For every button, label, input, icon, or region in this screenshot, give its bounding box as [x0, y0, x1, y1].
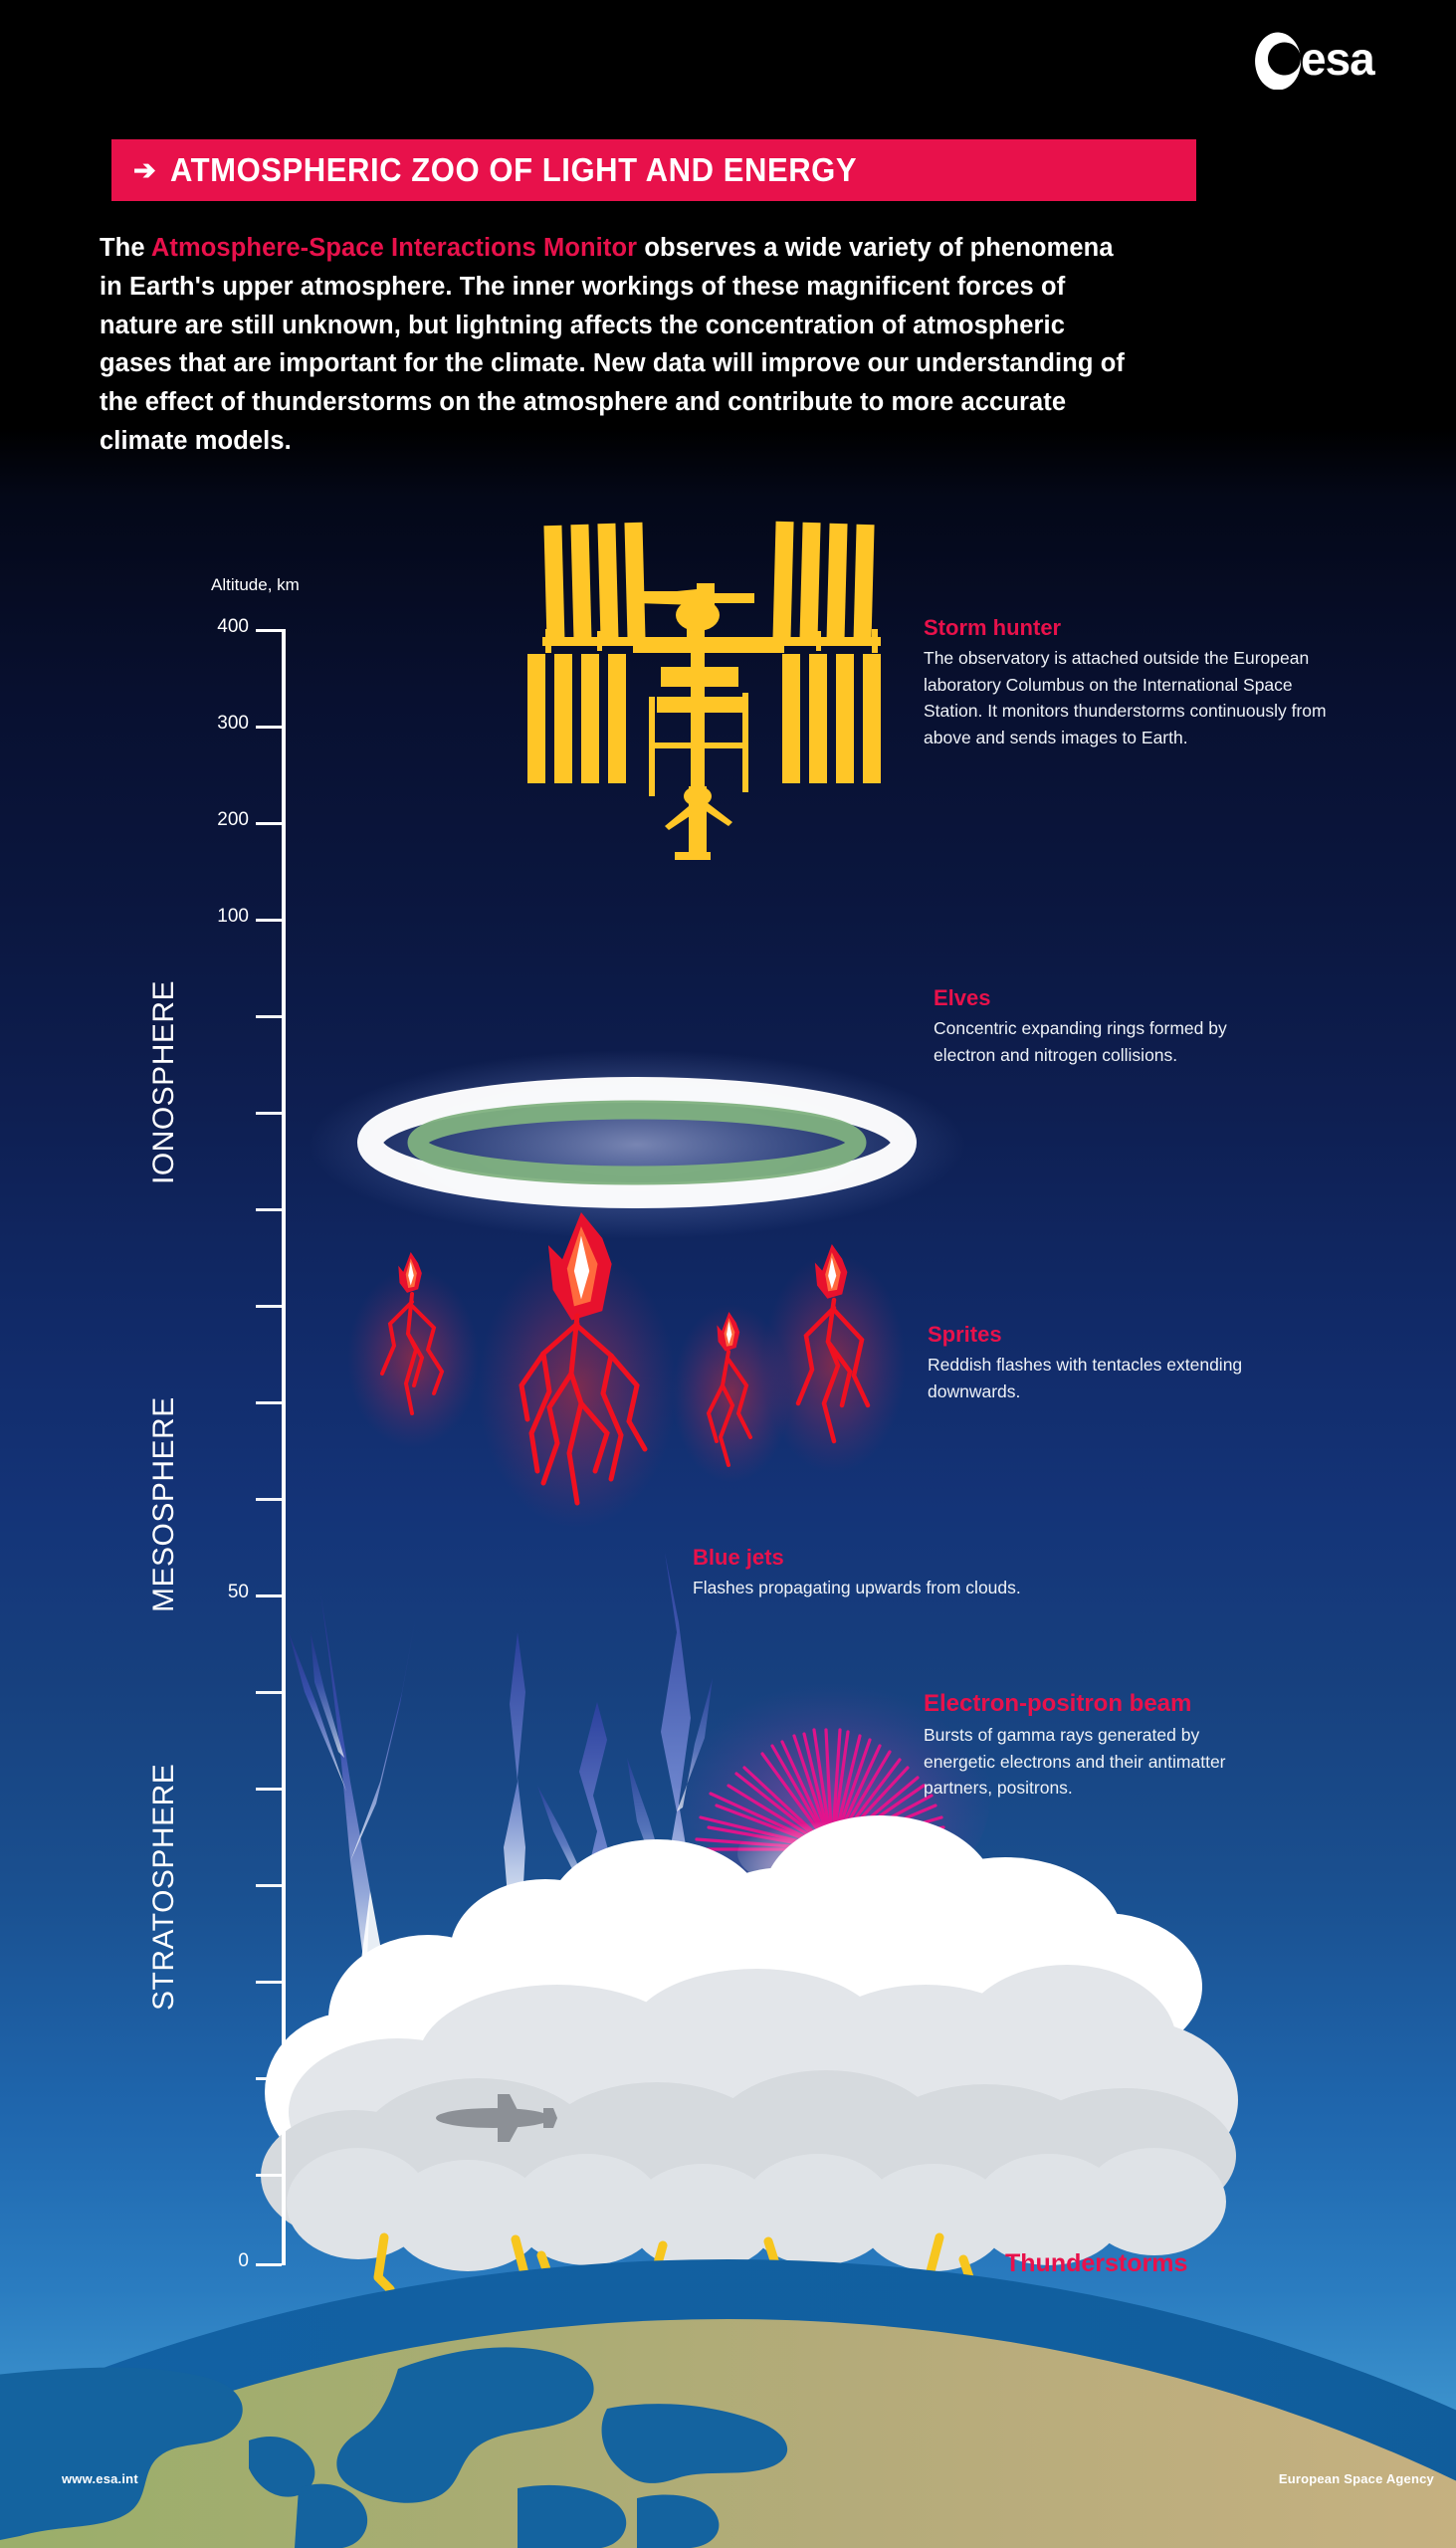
axis-tick	[256, 629, 282, 632]
axis-tick	[256, 919, 282, 922]
axis-tick	[256, 1981, 282, 1984]
axis-tick	[256, 1401, 282, 1404]
annotation-body-storm-hunter: The observatory is attached outside the …	[924, 645, 1342, 750]
arrow-right-icon: ➔	[133, 157, 156, 184]
axis-tick	[256, 1788, 282, 1791]
annotation-body-elves: Concentric expanding rings formed by ele…	[934, 1015, 1262, 1068]
annotation-elves: ElvesConcentric expanding rings formed b…	[934, 985, 1262, 1068]
annotation-body-blue-jets: Flashes propagating upwards from clouds.	[693, 1575, 1021, 1601]
axis-tick-label: 50	[185, 1582, 249, 1603]
axis-tick-label: 0	[185, 2250, 249, 2272]
axis-title: Altitude, km	[211, 575, 300, 595]
axis-tick	[256, 1498, 282, 1501]
intro-pre: The	[100, 234, 151, 262]
esa-logo[interactable]: esa	[1255, 28, 1434, 90]
intro-paragraph: The Atmosphere-Space Interactions Monito…	[100, 229, 1135, 461]
axis-tick	[256, 1691, 282, 1694]
footer-website[interactable]: www.esa.int	[62, 2471, 138, 2486]
esa-logo-icon: esa	[1255, 28, 1434, 90]
annotation-title-electron-positron-beam: Electron-positron beam	[924, 1690, 1272, 1718]
axis-tick-label: 300	[185, 713, 249, 735]
altitude-axis-line	[282, 629, 286, 2265]
axis-tick	[256, 2174, 282, 2177]
svg-text:esa: esa	[1301, 33, 1375, 85]
intro-highlight: Atmosphere-Space Interactions Monitor	[151, 234, 637, 262]
axis-tick	[256, 1208, 282, 1211]
page-title: ATMOSPHERIC ZOO OF LIGHT AND ENERGY	[170, 151, 857, 189]
title-banner: ➔ ATMOSPHERIC ZOO OF LIGHT AND ENERGY	[111, 139, 1196, 201]
layer-label-mesosphere: MESOSPHERE	[147, 1284, 181, 1612]
annotation-body-electron-positron-beam: Bursts of gamma rays generated by energe…	[924, 1722, 1272, 1802]
thunderstorms-label: Thunderstorms	[1005, 2249, 1187, 2278]
axis-tick	[256, 1594, 282, 1597]
infographic-poster: esa ➔ ATMOSPHERIC ZOO OF LIGHT AND ENERG…	[0, 0, 1456, 2548]
axis-tick	[256, 2263, 282, 2266]
axis-tick	[256, 1884, 282, 1887]
annotation-blue-jets: Blue jetsFlashes propagating upwards fro…	[693, 1545, 1021, 1601]
axis-tick	[256, 2077, 282, 2080]
annotation-title-sprites: Sprites	[928, 1322, 1256, 1348]
axis-tick-label: 100	[185, 906, 249, 928]
annotation-electron-positron-beam: Electron-positron beamBursts of gamma ra…	[924, 1690, 1272, 1802]
intro-post: observes a wide variety of phenomena in …	[100, 234, 1125, 455]
axis-tick-label: 200	[185, 809, 249, 831]
annotation-body-sprites: Reddish flashes with tentacles extending…	[928, 1352, 1256, 1404]
annotation-title-blue-jets: Blue jets	[693, 1545, 1021, 1571]
footer-agency: European Space Agency	[1279, 2471, 1434, 2486]
axis-tick	[256, 1305, 282, 1308]
annotation-title-elves: Elves	[934, 985, 1262, 1011]
annotation-title-storm-hunter: Storm hunter	[924, 615, 1342, 641]
annotation-storm-hunter: Storm hunterThe observatory is attached …	[924, 615, 1342, 750]
layer-label-stratosphere: STRATOSPHERE	[147, 1612, 181, 2011]
axis-tick	[256, 822, 282, 825]
axis-tick-label: 400	[185, 616, 249, 638]
layer-label-ionosphere: IONOSPHERE	[147, 856, 181, 1184]
axis-tick	[256, 726, 282, 729]
annotation-sprites: SpritesReddish flashes with tentacles ex…	[928, 1322, 1256, 1404]
axis-tick	[256, 1015, 282, 1018]
axis-tick	[256, 1112, 282, 1115]
